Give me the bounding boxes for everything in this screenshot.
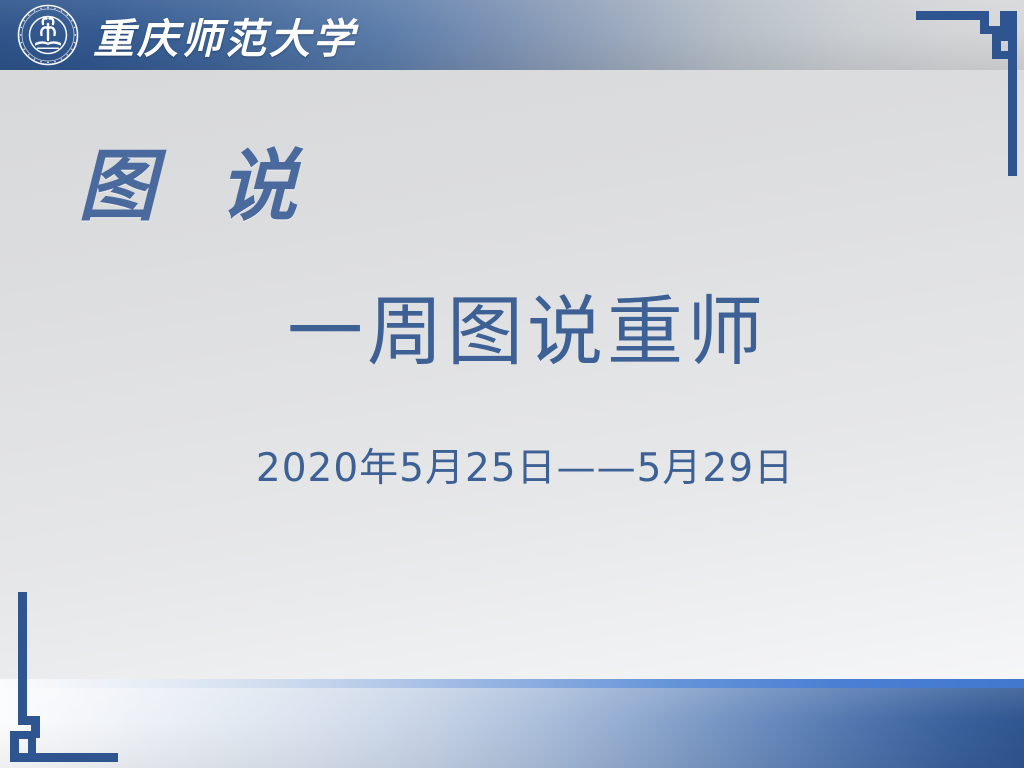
university-crest-icon	[17, 4, 79, 66]
corner-ornament-bottom-left	[0, 588, 130, 768]
date-range-subtitle: 2020年5月25日——5月29日	[0, 437, 1024, 493]
footer-band	[0, 688, 1024, 768]
page-title: 一周图说重师	[0, 292, 1024, 372]
footer-accent-stripe	[0, 679, 1024, 688]
corner-ornament-top-right	[914, 0, 1024, 190]
presentation-slide: 重庆师范大学 图 说 一周图说重师 2020年5月25日——5月29日	[0, 0, 1024, 768]
brush-decorative-title: 图 说	[78, 148, 315, 226]
university-wordmark: 重庆师范大学	[93, 4, 357, 66]
